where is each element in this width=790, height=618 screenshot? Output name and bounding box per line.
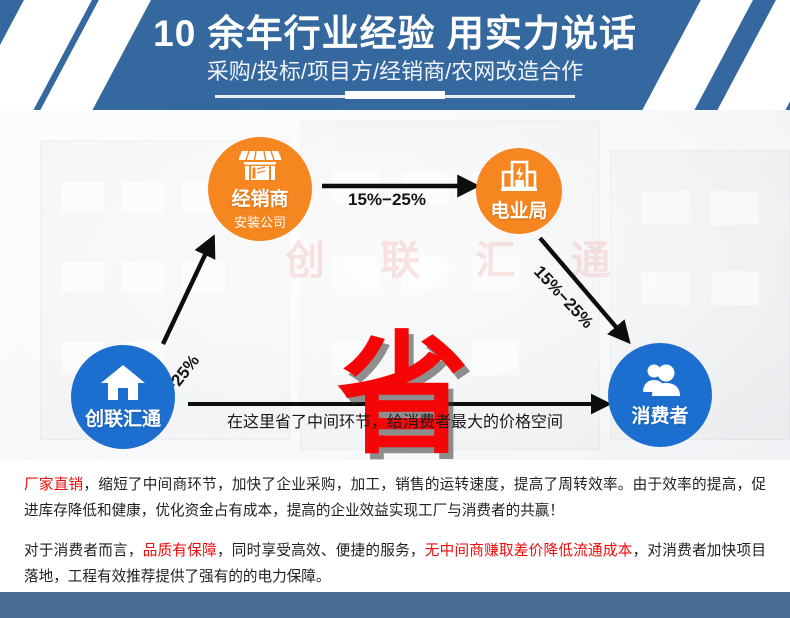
- node-brand[interactable]: 创联汇通: [71, 345, 175, 449]
- shop-icon: [239, 148, 281, 182]
- node-dealer[interactable]: 经销商 安装公司: [208, 137, 312, 241]
- home-icon: [100, 363, 146, 401]
- copy-paragraph-2: 对于消费者而言，品质有保障，同时享受高效、便捷的服务，无中间商赚取差价降低流通成…: [24, 538, 766, 590]
- header-title: 10 余年行业经验 用实力说话: [0, 12, 790, 56]
- node-consumer-label: 消费者: [631, 401, 688, 428]
- users-icon: [637, 362, 683, 398]
- copy-paragraph-2-middle: ，同时享受高效、便捷的服务，: [217, 543, 425, 559]
- header-divider-center: [345, 91, 445, 99]
- arrow-label-dealer-to-bureau: 15%−25%: [348, 190, 426, 210]
- copy-highlight-quality: 品质有保障: [143, 543, 217, 559]
- arrow-label-brand-to-consumer: 在这里省了中间环节，给消费者最大的价格空间: [200, 408, 590, 432]
- save-character: 省: [337, 337, 469, 455]
- power-building-icon: [499, 160, 539, 194]
- node-dealer-label: 经销商: [231, 184, 288, 211]
- copy-paragraph-1-rest: ，缩短了中间商环节，加快了企业采购，加工，销售的运转速度，提高了周转效率。由于效…: [24, 477, 766, 519]
- promo-banner-page: 10 余年行业经验 用实力说话 采购/投标/项目方/经销商/农网改造合作 创 联…: [0, 0, 790, 618]
- node-dealer-sublabel: 安装公司: [234, 212, 286, 231]
- arrow-brand-to-dealer: [163, 238, 213, 344]
- page-footer-bar: [0, 592, 790, 618]
- copy-paragraph-1: 厂家直销，缩短了中间商环节，加快了企业采购，加工，销售的运转速度，提高了周转效率…: [24, 472, 766, 524]
- copy-highlight-direct-sales: 厂家直销: [24, 477, 83, 493]
- page-header: 10 余年行业经验 用实力说话 采购/投标/项目方/经销商/农网改造合作: [0, 0, 790, 110]
- node-consumer[interactable]: 消费者: [608, 343, 712, 447]
- copy-highlight-no-middleman: 无中间商赚取差价降低流通成本: [425, 543, 633, 559]
- marketing-copy: 厂家直销，缩短了中间商环节，加快了企业采购，加工，销售的运转速度，提高了周转效率…: [0, 460, 790, 590]
- flow-diagram: 创 联 汇 通 省 15%−25% 15%−25% 15%−25% 在这里省了中…: [0, 110, 790, 460]
- node-brand-label: 创联汇通: [85, 404, 161, 431]
- copy-paragraph-2-lead: 对于消费者而言，: [24, 543, 143, 559]
- node-power-bureau-label: 电业局: [490, 196, 547, 223]
- header-subtitle: 采购/投标/项目方/经销商/农网改造合作: [0, 58, 790, 86]
- node-power-bureau[interactable]: 电业局: [476, 148, 562, 234]
